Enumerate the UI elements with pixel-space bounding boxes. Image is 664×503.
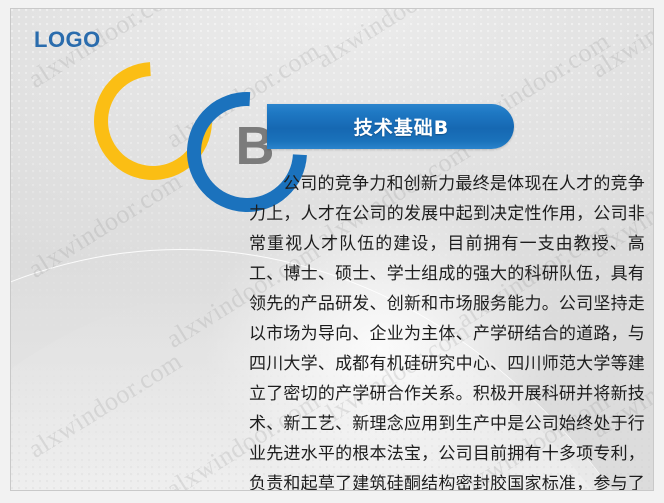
- slide-frame: alxwindoor.comalxwindoor.comalxwindoor.c…: [0, 0, 664, 503]
- section-title-banner: 技术基础B: [267, 104, 514, 149]
- body-paragraph: 公司的竞争力和创新力最终是体现在人才的竞争力上，人才在公司的发展中起到决定性作用…: [249, 169, 645, 491]
- logo-text: LOGO: [34, 27, 101, 53]
- section-title-text: 技术基础B: [267, 104, 514, 149]
- slide-canvas: alxwindoor.comalxwindoor.comalxwindoor.c…: [10, 8, 654, 491]
